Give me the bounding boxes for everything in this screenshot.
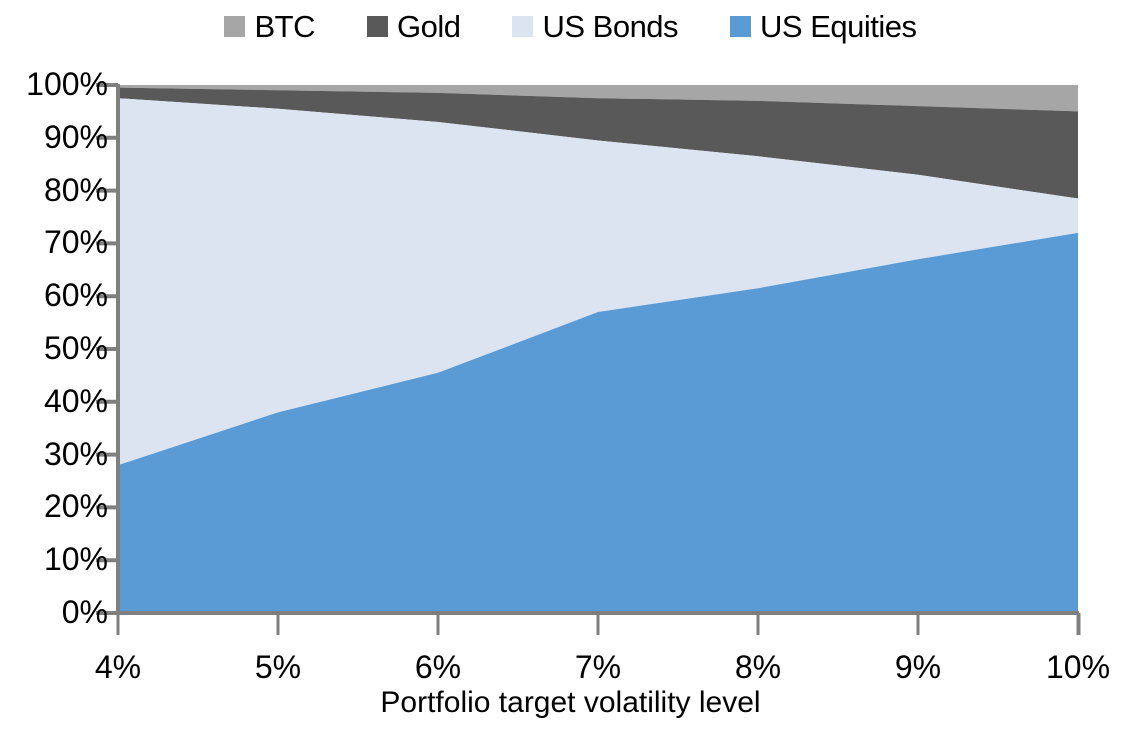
x-tick-label-6: 6% — [415, 651, 461, 683]
legend-label-btc: BTC — [254, 11, 315, 42]
x-axis-title: Portfolio target volatility level — [0, 688, 1141, 718]
x-tick-label-5: 5% — [255, 651, 301, 683]
legend-item-btc[interactable]: BTC — [224, 11, 315, 42]
legend-label-gold: Gold — [397, 11, 460, 42]
legend-swatch-gold — [367, 16, 388, 37]
x-tick-label-10: 10% — [1046, 651, 1110, 683]
x-tick-label-8: 8% — [735, 651, 781, 683]
x-tick-label-9: 9% — [895, 651, 941, 683]
x-tick-label-7: 7% — [575, 651, 621, 683]
legend-item-us-bonds[interactable]: US Bonds — [512, 11, 678, 42]
chart-legend: BTC Gold US Bonds US Equities — [0, 0, 1141, 52]
legend-swatch-btc — [224, 16, 245, 37]
legend-item-us-equities[interactable]: US Equities — [730, 11, 916, 42]
legend-swatch-us-equities — [730, 16, 751, 37]
area-chart: BTC Gold US Bonds US Equities 0%10%20%30… — [0, 0, 1141, 742]
plot-area: 0%10%20%30%40%50%60%70%80%90%100% 4%5%6%… — [0, 52, 1141, 742]
x-axis-tick-labels: 4%5%6%7%8%9%10% — [0, 52, 1141, 742]
legend-label-us-equities: US Equities — [760, 11, 916, 42]
x-tick-label-4: 4% — [95, 651, 141, 683]
legend-swatch-us-bonds — [512, 16, 533, 37]
legend-item-gold[interactable]: Gold — [367, 11, 460, 42]
legend-label-us-bonds: US Bonds — [542, 11, 678, 42]
